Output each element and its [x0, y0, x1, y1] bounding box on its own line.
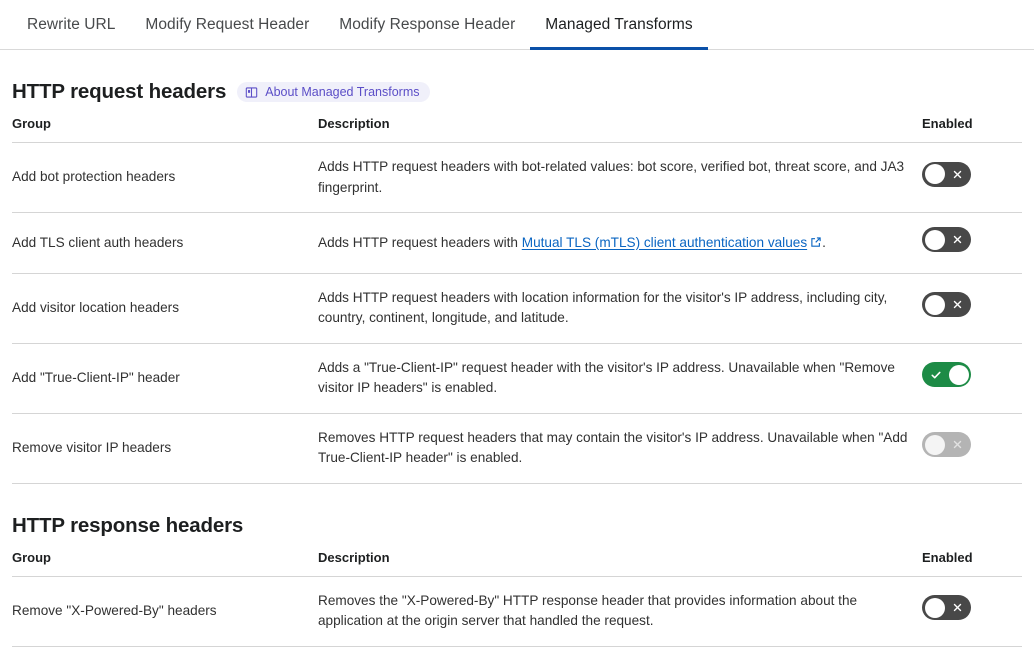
toggle-state-icon [951, 227, 964, 252]
section-title: HTTP request headers [12, 80, 226, 104]
row-description: Adds a "True-Client-IP" request header w… [318, 343, 922, 413]
row-enabled-cell [922, 576, 1022, 646]
tab-modify-response-header[interactable]: Modify Response Header [324, 0, 530, 49]
toggle-state-icon [951, 595, 964, 620]
tab-bar: Rewrite URLModify Request HeaderModify R… [0, 0, 1034, 50]
row-group-name: Add bot protection headers [12, 143, 318, 213]
row-group-name: Add TLS client auth headers [12, 213, 318, 274]
toggle-state-icon [951, 292, 964, 317]
section-http-request-headers: HTTP request headersAbout Managed Transf… [12, 50, 1022, 484]
table-row: Remove "X-Powered-By" headersRemoves the… [12, 576, 1022, 646]
managed-transforms-table: GroupDescriptionEnabledAdd bot protectio… [12, 116, 1022, 484]
page-content: HTTP request headersAbout Managed Transf… [0, 50, 1034, 653]
table-row: Remove visitor IP headersRemoves HTTP re… [12, 413, 1022, 483]
enabled-toggle[interactable] [922, 362, 971, 387]
enabled-toggle[interactable] [922, 162, 971, 187]
book-icon [245, 86, 258, 99]
description-text: Removes HTTP request headers that may co… [318, 430, 907, 466]
row-description: Adds HTTP request headers with location … [318, 273, 922, 343]
row-enabled-cell [922, 273, 1022, 343]
row-group-name: Add "True-Client-IP" header [12, 343, 318, 413]
enabled-toggle [922, 432, 971, 457]
description-text: Adds HTTP request headers with [318, 235, 522, 250]
column-header-group: Group [12, 116, 318, 143]
row-enabled-cell [922, 343, 1022, 413]
toggle-knob [949, 365, 969, 385]
table-header-row: GroupDescriptionEnabled [12, 550, 1022, 577]
table-row: Add "True-Client-IP" headerAdds a "True-… [12, 343, 1022, 413]
row-group-name: Add security headers [12, 646, 318, 653]
toggle-state-icon [929, 362, 942, 387]
description-text: Removes the "X-Powered-By" HTTP response… [318, 593, 857, 629]
external-link-icon [810, 234, 822, 246]
toggle-knob [925, 295, 945, 315]
table-row: Add TLS client auth headersAdds HTTP req… [12, 213, 1022, 274]
description-text: Adds HTTP request headers with bot-relat… [318, 159, 904, 195]
tab-managed-transforms[interactable]: Managed Transforms [530, 0, 707, 49]
row-description: Adds HTTP request headers with bot-relat… [318, 143, 922, 213]
tab-modify-request-header[interactable]: Modify Request Header [130, 0, 324, 49]
section-header-http-request-headers: HTTP request headersAbout Managed Transf… [12, 80, 1022, 116]
row-group-name: Add visitor location headers [12, 273, 318, 343]
managed-transforms-table: GroupDescriptionEnabledRemove "X-Powered… [12, 550, 1022, 653]
section-http-response-headers: HTTP response headersGroupDescriptionEna… [12, 484, 1022, 653]
enabled-toggle[interactable] [922, 595, 971, 620]
row-group-name: Remove "X-Powered-By" headers [12, 576, 318, 646]
enabled-toggle[interactable] [922, 227, 971, 252]
about-managed-transforms-badge[interactable]: About Managed Transforms [237, 82, 430, 102]
mtls-documentation-link[interactable]: Mutual TLS (mTLS) client authentication … [522, 235, 807, 250]
table-row: Add bot protection headersAdds HTTP requ… [12, 143, 1022, 213]
section-header-http-response-headers: HTTP response headers [12, 514, 1022, 550]
toggle-knob [925, 598, 945, 618]
column-header-enabled: Enabled [922, 116, 1022, 143]
row-enabled-cell [922, 213, 1022, 274]
column-header-description: Description [318, 116, 922, 143]
table-header-row: GroupDescriptionEnabled [12, 116, 1022, 143]
row-enabled-cell [922, 646, 1022, 653]
row-enabled-cell [922, 143, 1022, 213]
toggle-state-icon [951, 162, 964, 187]
description-text: Adds HTTP request headers with location … [318, 290, 887, 326]
link-label: Mutual TLS (mTLS) client authentication … [522, 235, 807, 250]
toggle-knob [925, 435, 945, 455]
table-row: Add visitor location headersAdds HTTP re… [12, 273, 1022, 343]
tab-rewrite-url[interactable]: Rewrite URL [12, 0, 130, 49]
enabled-toggle[interactable] [922, 292, 971, 317]
row-description: Removes the "X-Powered-By" HTTP response… [318, 576, 922, 646]
toggle-knob [925, 230, 945, 250]
row-group-name: Remove visitor IP headers [12, 413, 318, 483]
toggle-state-icon [951, 432, 964, 457]
column-header-description: Description [318, 550, 922, 577]
section-title: HTTP response headers [12, 514, 243, 538]
row-description: Adds several security-related HTTP respo… [318, 646, 922, 653]
row-enabled-cell [922, 413, 1022, 483]
row-description: Removes HTTP request headers that may co… [318, 413, 922, 483]
badge-label: About Managed Transforms [265, 85, 419, 99]
toggle-knob [925, 164, 945, 184]
description-text: Adds a "True-Client-IP" request header w… [318, 360, 895, 396]
column-header-enabled: Enabled [922, 550, 1022, 577]
column-header-group: Group [12, 550, 318, 577]
description-suffix: . [822, 235, 826, 250]
row-description: Adds HTTP request headers with Mutual TL… [318, 213, 922, 274]
table-row: Add security headersAdds several securit… [12, 646, 1022, 653]
